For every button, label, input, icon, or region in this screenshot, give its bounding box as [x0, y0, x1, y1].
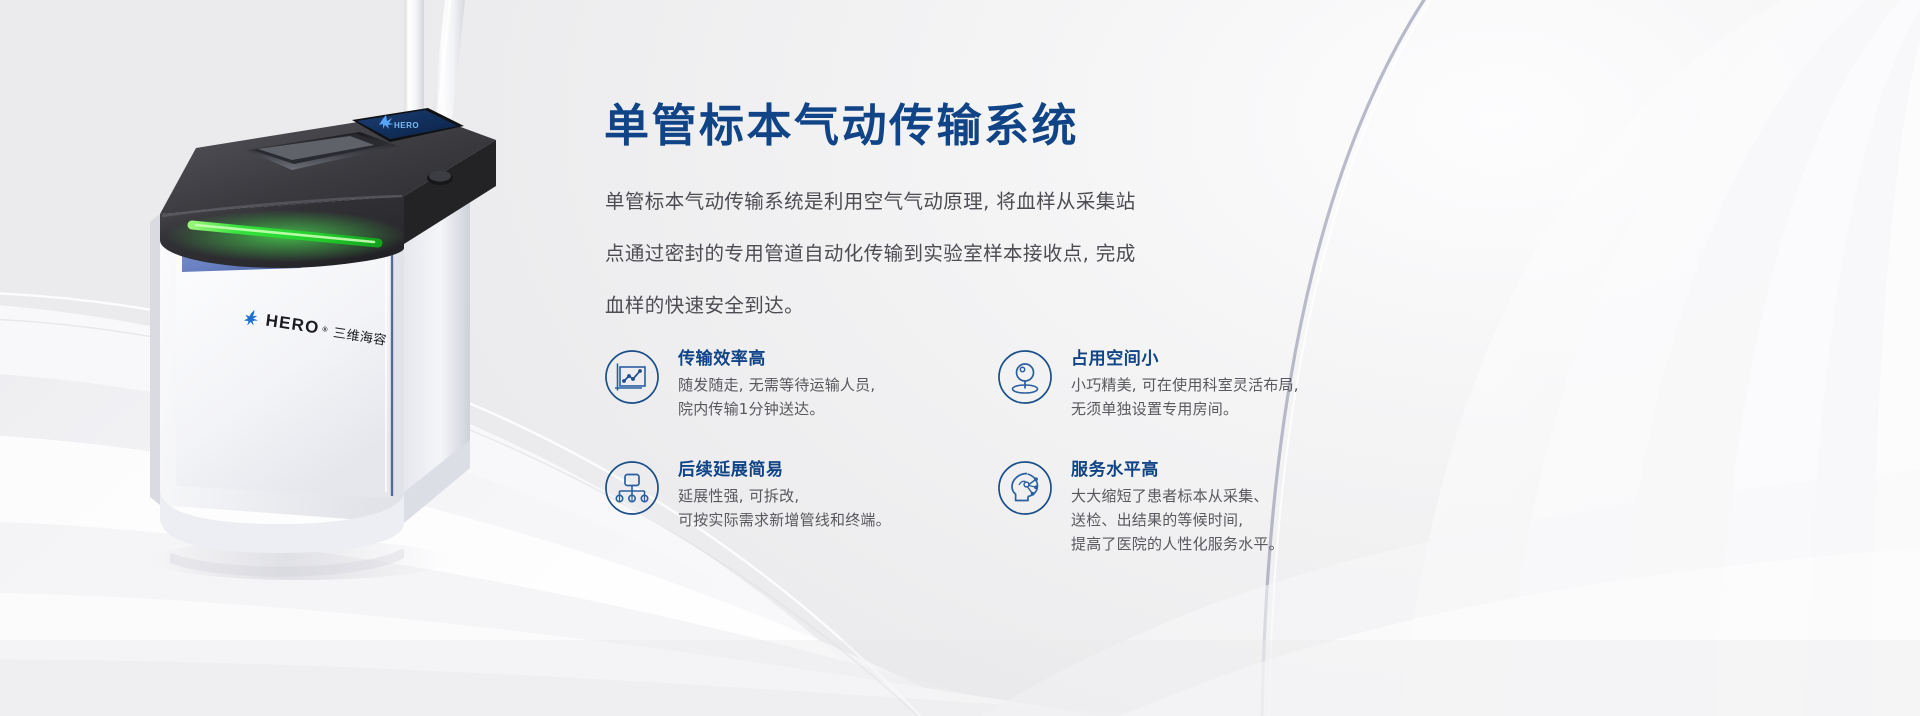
hero-description-line-3: 血样的快速安全到达。: [605, 280, 1265, 332]
feature-description: 小巧精美, 可在使用科室灵活布局, 无须单独设置专用房间。: [1071, 373, 1299, 421]
feature-description-line: 小巧精美, 可在使用科室灵活布局,: [1071, 373, 1299, 397]
feature-item-transfer-efficiency: 传输效率高 随发随走, 无需等待运输人员, 院内传输1分钟送达。: [604, 347, 997, 421]
feature-item-small-footprint: 占用空间小 小巧精美, 可在使用科室灵活布局, 无须单独设置专用房间。: [997, 347, 1390, 421]
feature-description-line: 可按实际需求新增管线和终端。: [678, 508, 891, 532]
feature-description-line: 随发随走, 无需等待运输人员,: [678, 373, 875, 397]
network-tree-icon: [604, 460, 660, 516]
feature-title: 服务水平高: [1071, 459, 1284, 482]
feature-list: 传输效率高 随发随走, 无需等待运输人员, 院内传输1分钟送达。: [604, 347, 1304, 556]
feature-description-line: 院内传输1分钟送达。: [678, 397, 875, 421]
product-device: HERO HERO ® 三维海容: [0, 0, 560, 716]
page-title: 单管标本气动传输系统: [604, 89, 1079, 154]
hero-banner: HERO HERO ® 三维海容 单管标本气动传输系统 单管标本气动传输系统是利…: [0, 0, 1920, 716]
space-pin-icon: [997, 349, 1053, 405]
ai-head-icon: [997, 460, 1053, 516]
feature-description-line: 延展性强, 可拆改,: [678, 484, 891, 508]
feature-description: 延展性强, 可拆改, 可按实际需求新增管线和终端。: [678, 484, 891, 532]
hero-content: 单管标本气动传输系统 单管标本气动传输系统是利用空气气动原理, 将血样从采集站 …: [604, 0, 1920, 716]
feature-description: 大大缩短了患者标本从采集、 送检、出结果的等候时间, 提高了医院的人性化服务水平…: [1071, 484, 1284, 556]
feature-item-easy-expansion: 后续延展简易 延展性强, 可拆改, 可按实际需求新增管线和终端。: [604, 458, 997, 556]
feature-description-line: 无须单独设置专用房间。: [1071, 397, 1299, 421]
hero-description-line-2: 点通过密封的专用管道自动化传输到实验室样本接收点, 完成: [605, 228, 1265, 280]
feature-description-line: 提高了医院的人性化服务水平。: [1071, 532, 1284, 556]
feature-description: 随发随走, 无需等待运输人员, 院内传输1分钟送达。: [678, 373, 875, 421]
feature-title: 占用空间小: [1071, 348, 1299, 371]
feature-description-line: 送检、出结果的等候时间,: [1071, 508, 1284, 532]
feature-title: 传输效率高: [678, 348, 875, 371]
pneumatic-tubes: [404, 0, 466, 128]
hero-description: 单管标本气动传输系统是利用空气气动原理, 将血样从采集站 点通过密封的专用管道自…: [605, 176, 1265, 332]
line-chart-icon: [604, 349, 660, 405]
feature-description-line: 大大缩短了患者标本从采集、: [1071, 484, 1284, 508]
svg-text:HERO: HERO: [394, 121, 419, 130]
feature-title: 后续延展简易: [678, 459, 891, 482]
feature-item-service-level: 服务水平高 大大缩短了患者标本从采集、 送检、出结果的等候时间, 提高了医院的人…: [997, 458, 1390, 556]
hero-description-line-1: 单管标本气动传输系统是利用空气气动原理, 将血样从采集站: [605, 176, 1265, 228]
